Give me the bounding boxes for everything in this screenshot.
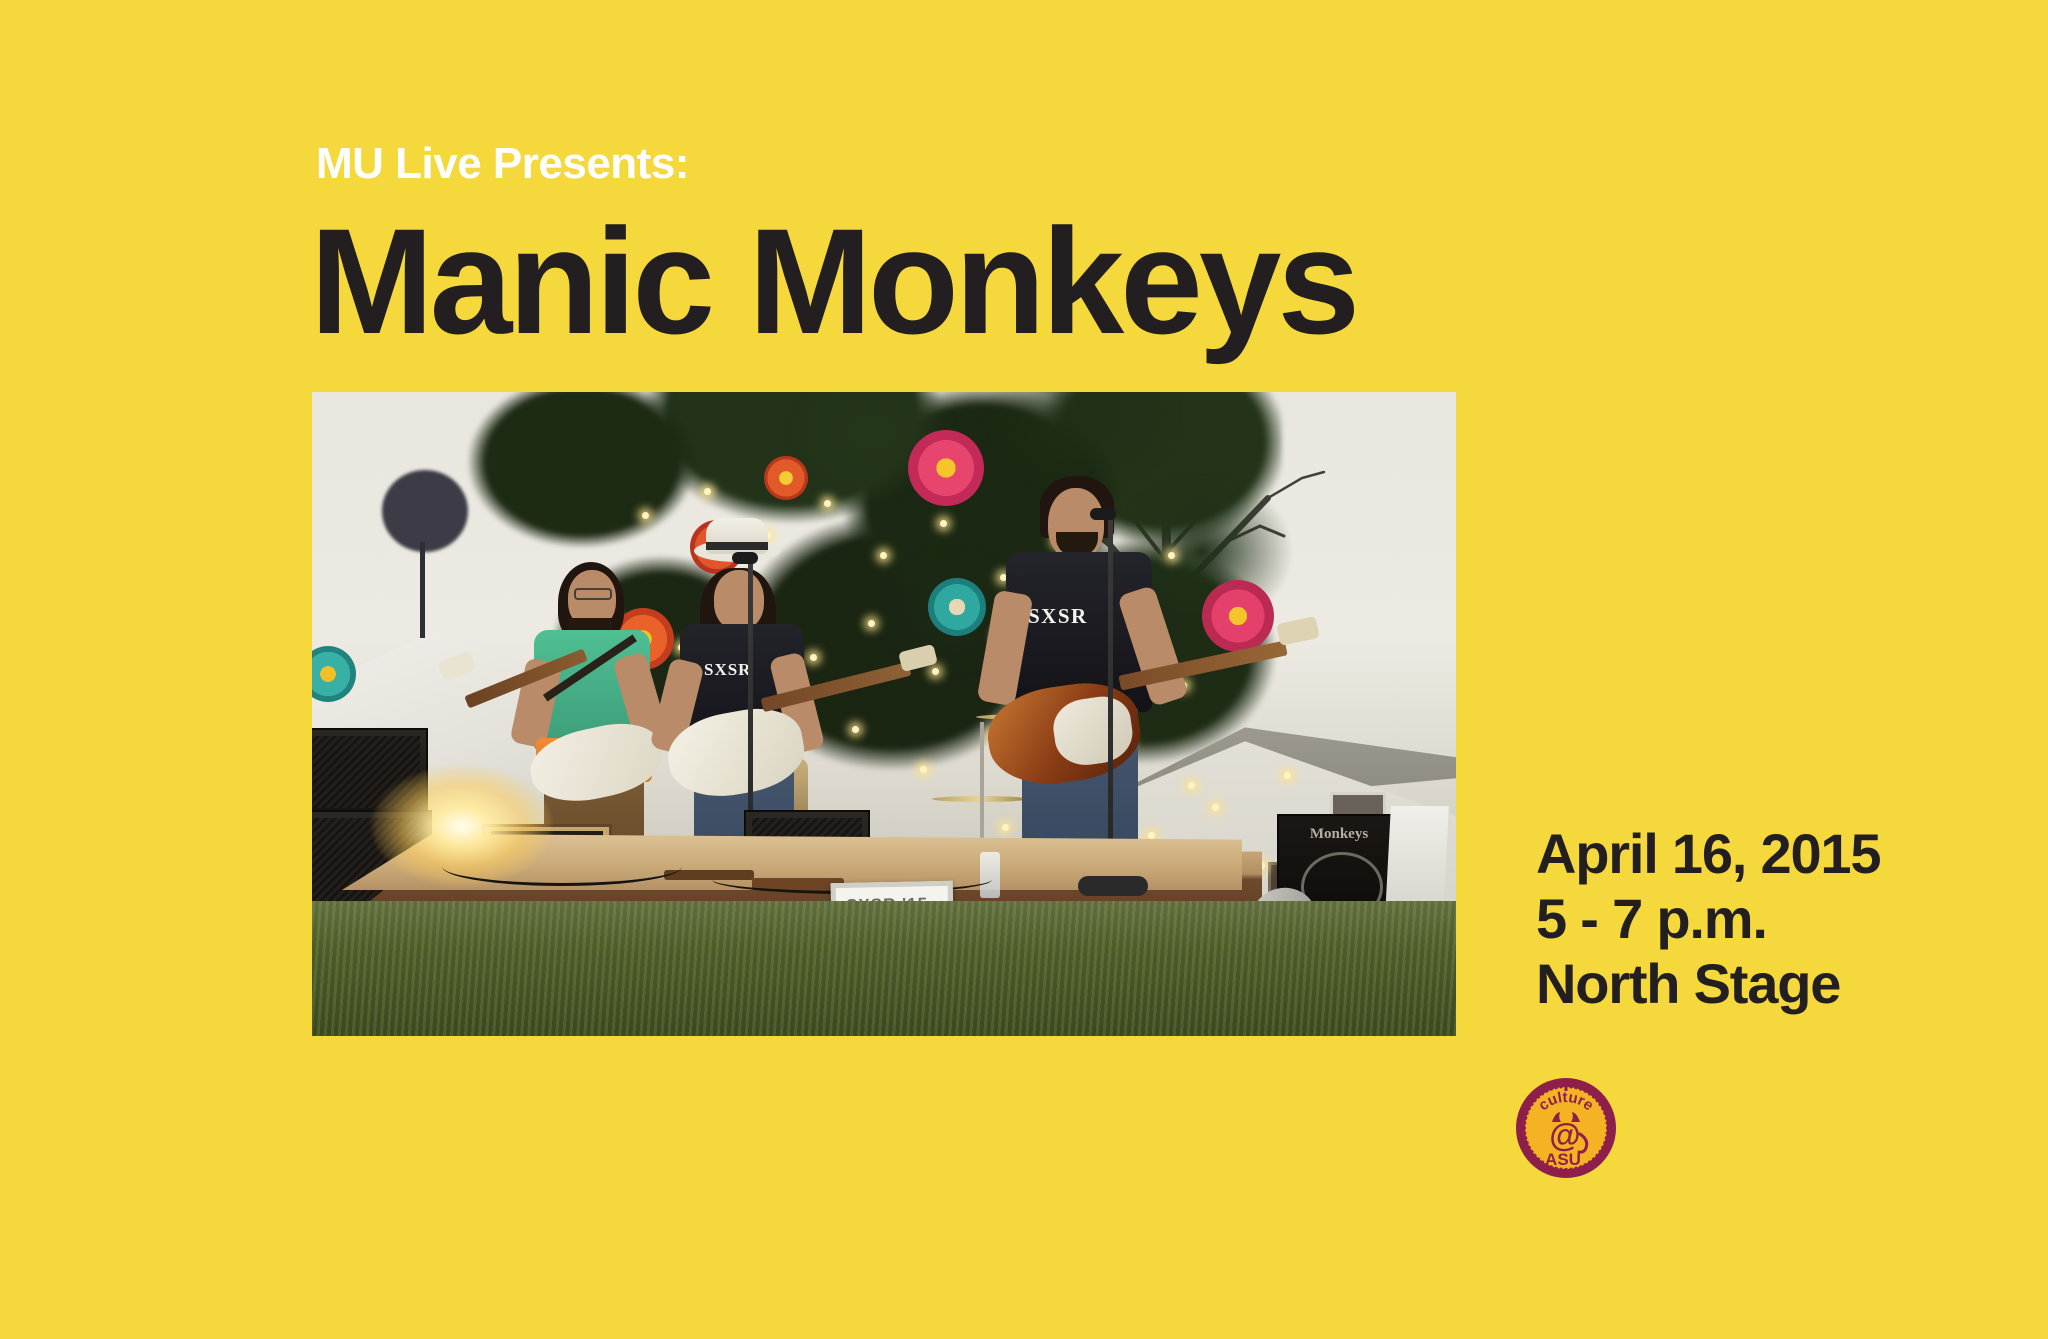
event-time: 5 - 7 p.m.	[1536, 887, 1880, 952]
culture-at-asu-badge: culture @ ASU	[1514, 1076, 1618, 1180]
cabinet-label: Monkeys	[1279, 826, 1399, 843]
grass-lawn	[312, 901, 1456, 1036]
badge-bottom-text: ASU	[1545, 1150, 1581, 1169]
culture-at-asu-logo: culture @ ASU	[1514, 1076, 1618, 1180]
presenter-line: MU Live Presents:	[316, 142, 689, 186]
white-panel	[1385, 806, 1449, 916]
paper-rosette	[1202, 580, 1274, 652]
page-title: Manic Monkeys	[310, 200, 1356, 362]
event-location: North Stage	[1536, 952, 1880, 1017]
paper-rosette	[928, 578, 986, 636]
poster-canvas: MU Live Presents: Manic Monkeys	[0, 0, 2048, 1339]
stage-cable	[442, 847, 682, 886]
event-details: April 16, 2015 5 - 7 p.m. North Stage	[1536, 822, 1880, 1017]
stage-monitor	[1078, 876, 1148, 896]
badge-at-symbol: @	[1549, 1117, 1580, 1153]
event-date: April 16, 2015	[1536, 822, 1880, 887]
hanging-speaker	[382, 470, 468, 552]
paper-rosette	[908, 430, 984, 506]
paper-rosette	[764, 456, 808, 500]
speaker-pole	[420, 542, 425, 638]
band-performance-photo: SXSR SXSR	[312, 392, 1456, 1036]
